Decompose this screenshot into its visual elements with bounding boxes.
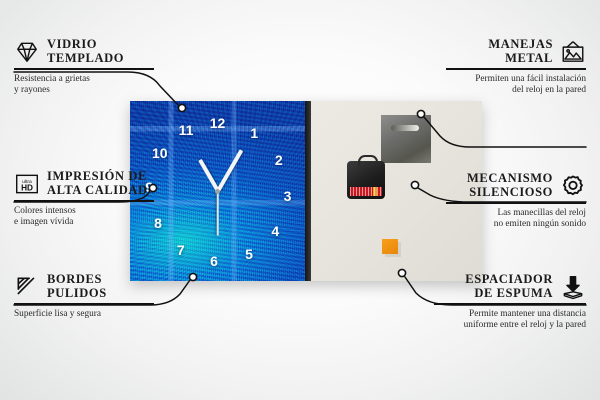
callout-rule: [446, 202, 586, 204]
callout-header: BORDES PULIDOS: [14, 273, 154, 300]
picture-frame-icon: [560, 39, 586, 65]
callout-title: MANEJAS METAL: [488, 38, 553, 65]
clock-second-hand: [217, 191, 219, 236]
gear-icon: [560, 173, 586, 199]
clock-hour-hand: [198, 159, 219, 192]
metal-hanger-plate: [381, 115, 431, 163]
callout-description: Permiten una fácil instalación del reloj…: [446, 74, 586, 96]
callout-description: Permite mantener una distancia uniforme …: [434, 309, 586, 331]
foam-spacer: [382, 239, 398, 254]
ultra-hd-icon: ultra HD: [14, 171, 40, 197]
clock-numeral-5: 5: [245, 247, 253, 261]
callout-title: VIDRIO TEMPLADO: [47, 38, 124, 65]
callout-impresion-alta-calidad: ultra HD IMPRESIÓN DE ALTA CALIDAD Color…: [14, 170, 154, 228]
callout-rule: [14, 200, 154, 202]
clock-numeral-7: 7: [177, 243, 185, 257]
polished-edges-icon: [14, 274, 40, 300]
clock-numeral-2: 2: [275, 153, 283, 167]
callout-description: Colores intensos e imagen vívida: [14, 206, 154, 228]
clock-numeral-11: 11: [179, 123, 194, 137]
clock-numeral-3: 3: [284, 189, 292, 203]
movement-hook: [358, 155, 378, 166]
callout-header: MANEJAS METAL: [446, 38, 586, 65]
clock-numeral-1: 1: [250, 126, 258, 140]
clock-numeral-10: 10: [152, 146, 168, 160]
callout-rule: [434, 303, 586, 305]
callout-header: ESPACIADOR DE ESPUMA: [434, 273, 586, 300]
callout-rule: [14, 68, 154, 70]
callout-vidrio-templado: VIDRIO TEMPLADO Resistencia a grietas y …: [14, 38, 154, 96]
callout-title: BORDES PULIDOS: [47, 273, 107, 300]
infographic-canvas: 12 1 2 3 4 5 6 7 8 9 10 11: [0, 0, 600, 400]
callout-header: VIDRIO TEMPLADO: [14, 38, 154, 65]
clock-numeral-8: 8: [154, 216, 162, 230]
quartz-movement: [347, 161, 385, 199]
callout-description: Superficie lisa y segura: [14, 309, 154, 320]
clock-numeral-12: 12: [210, 116, 226, 130]
clock-numeral-6: 6: [210, 254, 218, 268]
movement-battery-label: [350, 187, 382, 196]
callout-rule: [14, 303, 154, 305]
diamond-icon: [14, 39, 40, 65]
callout-description: Resistencia a grietas y rayones: [14, 74, 154, 96]
callout-rule: [446, 68, 586, 70]
callout-header: MECANISMO SILENCIOSO: [446, 172, 586, 199]
callout-title: MECANISMO SILENCIOSO: [467, 172, 553, 199]
foam-spacer-icon: [560, 274, 586, 300]
callout-title: ESPACIADOR DE ESPUMA: [465, 273, 553, 300]
callout-espaciador-espuma: ESPACIADOR DE ESPUMA Permite mantener un…: [434, 273, 586, 331]
callout-bordes-pulidos: BORDES PULIDOS Superficie lisa y segura: [14, 273, 154, 320]
svg-text:HD: HD: [21, 183, 33, 192]
callout-manejas-metal: MANEJAS METAL Permiten una fácil instala…: [446, 38, 586, 96]
callout-header: ultra HD IMPRESIÓN DE ALTA CALIDAD: [14, 170, 154, 197]
product-image: 12 1 2 3 4 5 6 7 8 9 10 11: [130, 101, 482, 281]
callout-mecanismo-silencioso: MECANISMO SILENCIOSO Las manecillas del …: [446, 172, 586, 230]
callout-description: Las manecillas del reloj no emiten ningú…: [446, 208, 586, 230]
hanger-slot: [391, 125, 419, 131]
clock-center-pin: [215, 189, 220, 194]
callout-title: IMPRESIÓN DE ALTA CALIDAD: [47, 170, 148, 197]
clock-numeral-4: 4: [271, 224, 279, 238]
clock-minute-hand: [216, 149, 243, 192]
clock-face: 12 1 2 3 4 5 6 7 8 9 10 11: [130, 101, 305, 281]
